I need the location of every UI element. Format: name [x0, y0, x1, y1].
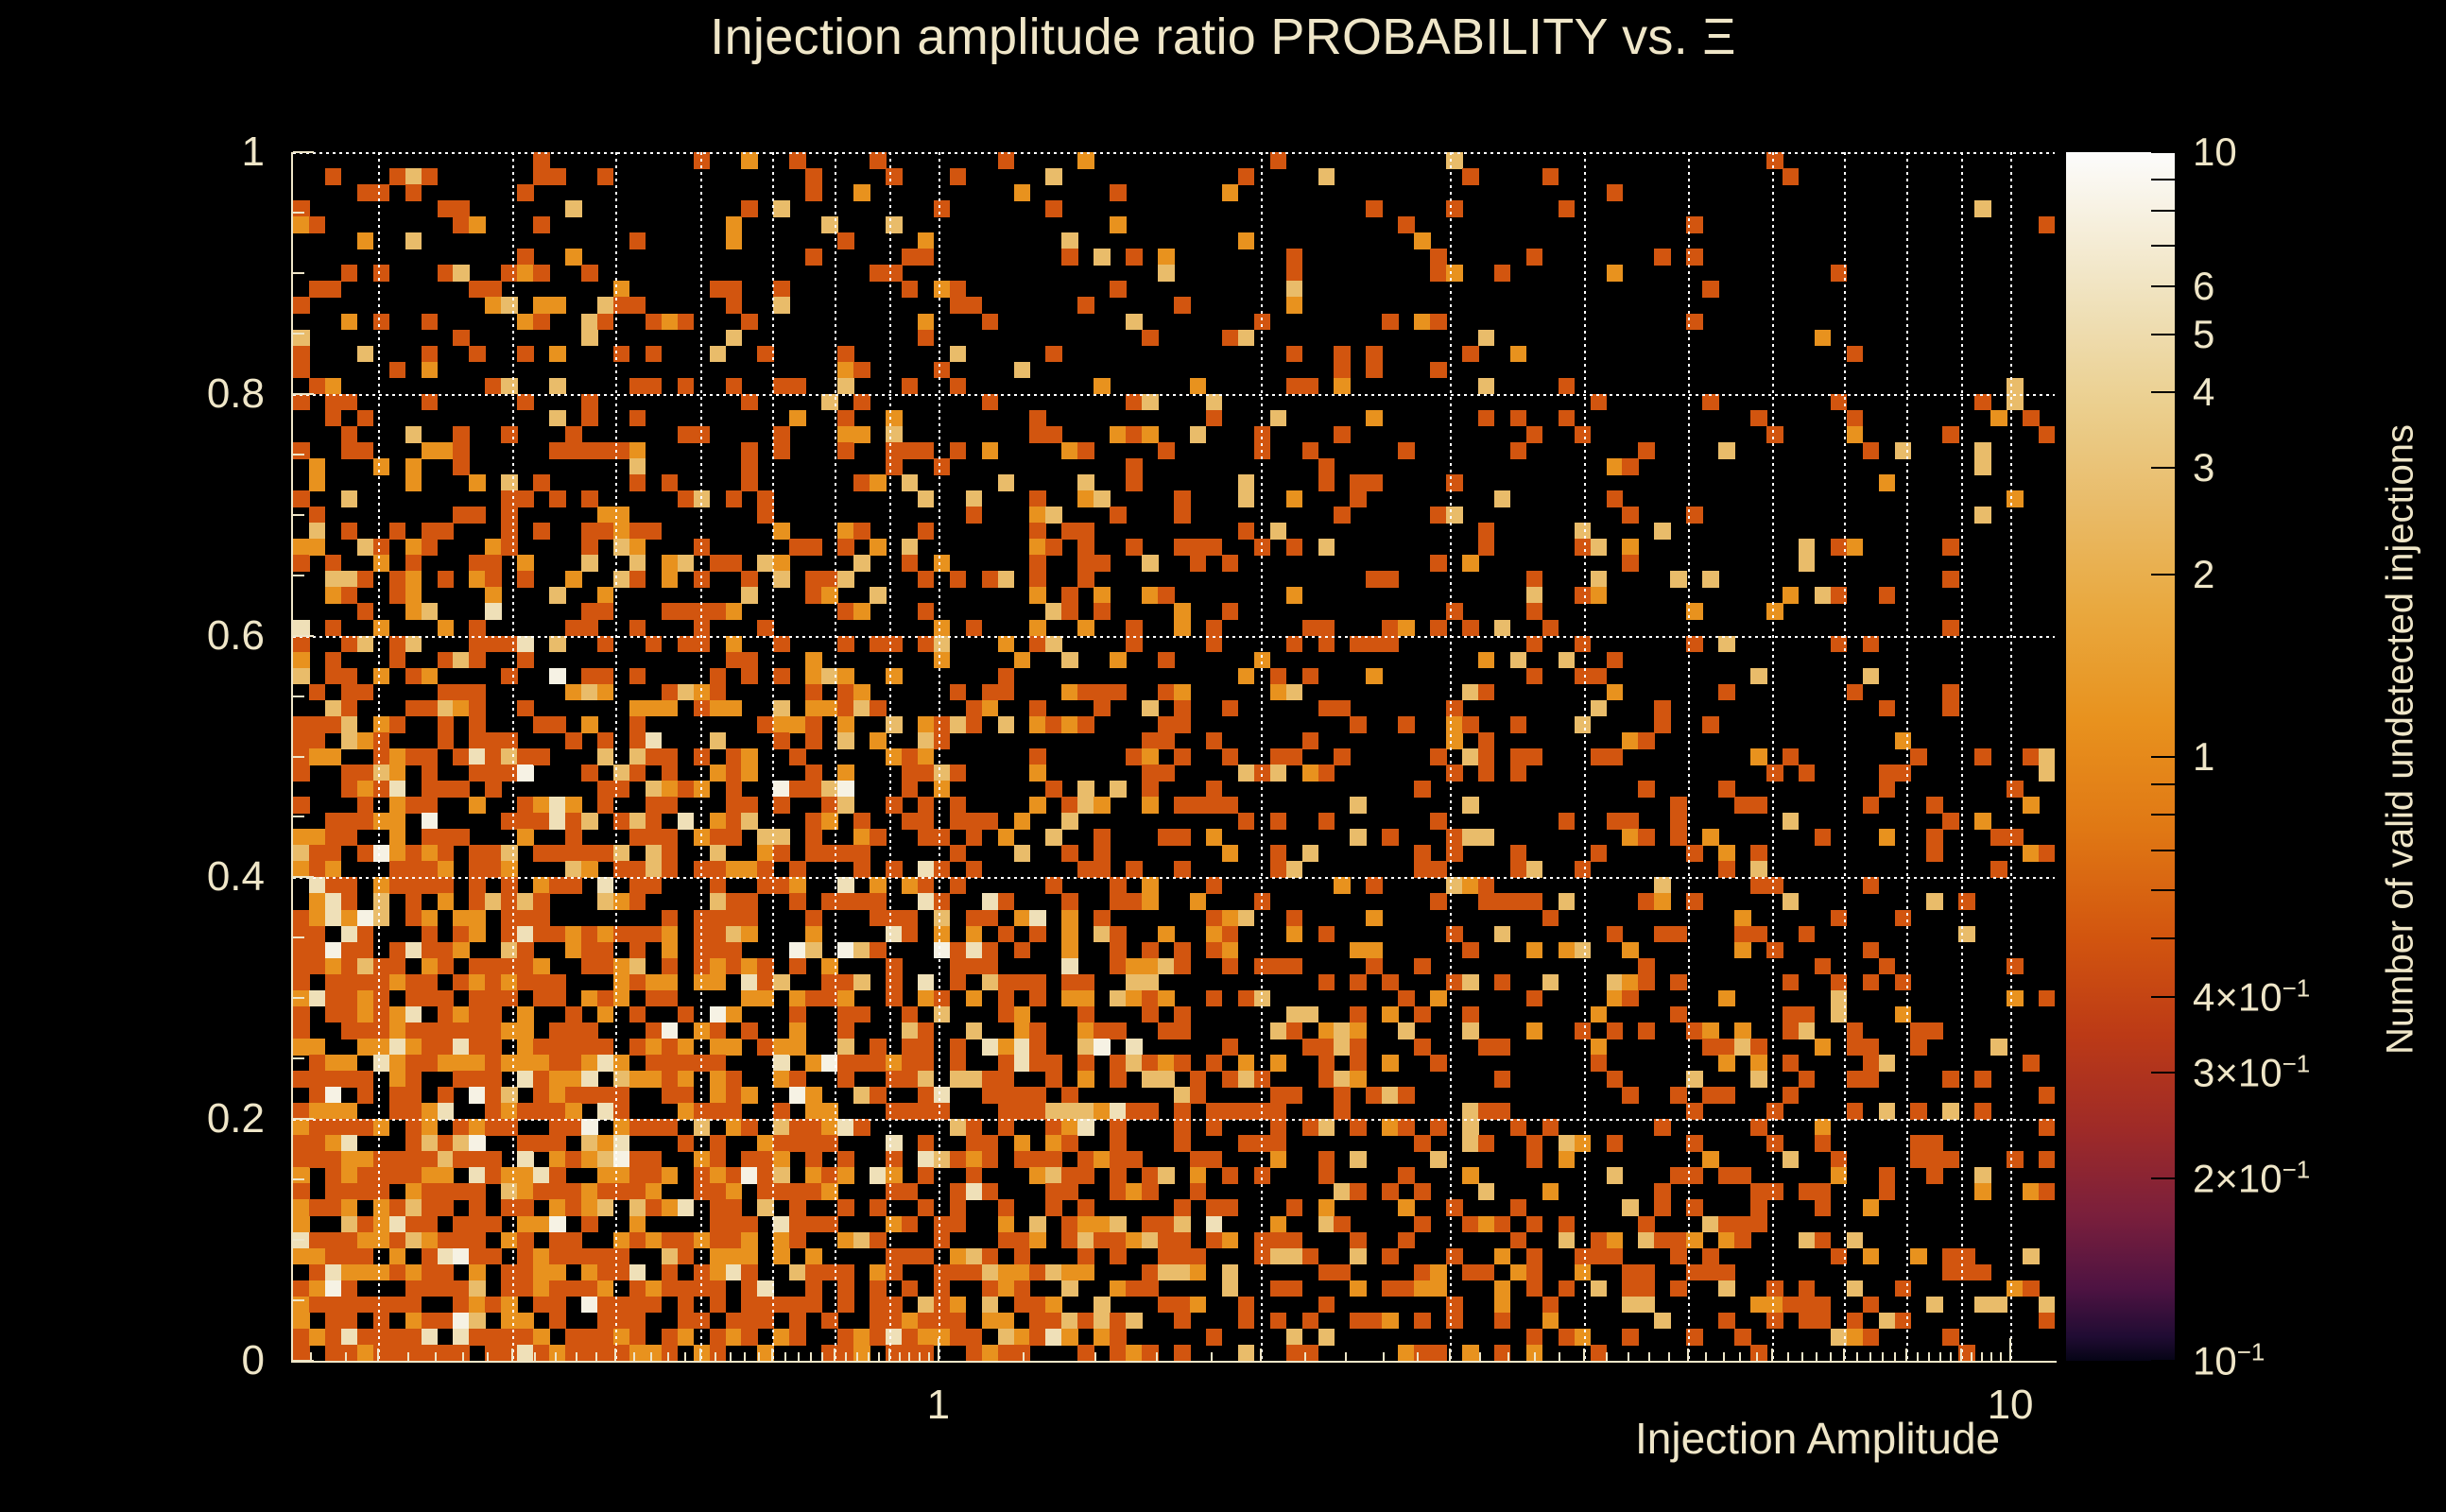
heatmap-cell [646, 636, 663, 653]
heatmap-cell [773, 1135, 790, 1152]
heatmap-cell [1045, 877, 1062, 894]
y-minor-tick [293, 575, 304, 576]
heatmap-cell [694, 926, 711, 943]
heatmap-cell [1206, 394, 1223, 411]
heatmap-cell [886, 1248, 903, 1265]
heatmap-cell [1061, 990, 1078, 1007]
heatmap-cell [1414, 861, 1431, 878]
heatmap-cell [1494, 1313, 1511, 1330]
heatmap-cell [902, 1216, 919, 1233]
heatmap-cell [1686, 1103, 1703, 1120]
heatmap-cell [1222, 330, 1239, 347]
heatmap-cell [629, 458, 646, 475]
heatmap-cell [549, 1135, 566, 1152]
heatmap-cell [2039, 1087, 2055, 1104]
heatmap-cell [1910, 1248, 1927, 1265]
heatmap-cell [837, 1167, 854, 1184]
heatmap-cell [485, 1119, 502, 1136]
heatmap-cell [389, 1022, 406, 1039]
heatmap-cell [581, 394, 598, 411]
heatmap-cell [853, 684, 870, 701]
heatmap-cell [1094, 1103, 1111, 1120]
heatmap-cell [629, 571, 646, 588]
heatmap-cell [678, 1313, 695, 1330]
heatmap-cell [726, 1006, 743, 1023]
heatmap-cell [309, 893, 326, 910]
heatmap-cell [405, 636, 422, 653]
heatmap-cell [293, 861, 310, 878]
heatmap-cell [373, 1151, 390, 1168]
heatmap-cell [1174, 1087, 1191, 1104]
heatmap-cell [678, 378, 695, 395]
heatmap-cell [918, 1055, 935, 1072]
heatmap-cell [1591, 1248, 1608, 1265]
heatmap-cell [1142, 700, 1159, 717]
heatmap-cell [1974, 442, 1991, 459]
heatmap-cell [789, 1264, 806, 1281]
heatmap-cell [918, 748, 935, 765]
heatmap-cell [789, 958, 806, 975]
heatmap-cell [1847, 1039, 1864, 1056]
heatmap-cell [886, 1313, 903, 1330]
heatmap-cell [1766, 1313, 1783, 1330]
heatmap-cell [1061, 910, 1078, 927]
heatmap-cell [422, 1232, 439, 1249]
heatmap-cell [1174, 1119, 1191, 1136]
heatmap-cell [1478, 523, 1495, 540]
heatmap-cell [565, 1280, 582, 1297]
heatmap-cell [694, 1119, 711, 1136]
heatmap-cell [902, 474, 919, 491]
heatmap-cell [1158, 926, 1175, 943]
heatmap-cell [918, 1297, 935, 1314]
heatmap-cell [934, 765, 951, 782]
heatmap-cell [757, 829, 774, 846]
heatmap-cell [1094, 1329, 1111, 1346]
heatmap-cell [982, 1087, 999, 1104]
heatmap-cell [357, 684, 374, 701]
heatmap-cell [373, 1055, 390, 1072]
heatmap-cell [581, 1071, 598, 1088]
heatmap-cell [357, 765, 374, 782]
heatmap-cell [1366, 346, 1383, 363]
heatmap-cell [1174, 1264, 1191, 1281]
heatmap-cell [597, 1264, 614, 1281]
heatmap-cell [1766, 765, 1783, 782]
heatmap-cell [1670, 1280, 1687, 1297]
heatmap-cell [934, 620, 951, 637]
x-minor-tick [462, 1352, 464, 1361]
heatmap-cell [1350, 1071, 1367, 1088]
heatmap-cell [309, 1135, 326, 1152]
heatmap-cell [1895, 1313, 1912, 1330]
heatmap-cell [357, 910, 374, 927]
heatmap-cell [629, 861, 646, 878]
heatmap-cell [1110, 1151, 1127, 1168]
heatmap-cell [1478, 748, 1495, 765]
heatmap-cell [405, 861, 422, 878]
heatmap-cell [341, 781, 358, 798]
heatmap-cell [773, 1232, 790, 1249]
heatmap-cell [1926, 829, 1943, 846]
heatmap-cell [805, 652, 822, 669]
heatmap-cell [1430, 1055, 1447, 1072]
heatmap-cell [1462, 974, 1479, 991]
heatmap-cell [1559, 1232, 1576, 1249]
heatmap-cell [1174, 620, 1191, 637]
x-minor-tick [821, 1352, 823, 1361]
heatmap-cell [1831, 394, 1848, 411]
heatmap-cell [646, 1022, 663, 1039]
heatmap-cell [1478, 1216, 1495, 1233]
heatmap-cell [1045, 539, 1062, 556]
heatmap-cell [597, 748, 614, 765]
heatmap-cell [1334, 362, 1351, 379]
heatmap-cell [1318, 700, 1335, 717]
heatmap-cell [1607, 265, 1624, 282]
heatmap-cell [389, 1232, 406, 1249]
heatmap-cell [1430, 748, 1447, 765]
heatmap-cell [1094, 603, 1111, 620]
heatmap-cell [469, 652, 486, 669]
heatmap-cell [405, 797, 422, 814]
heatmap-cell [1766, 603, 1783, 620]
heatmap-cell [902, 781, 919, 798]
heatmap-cell [341, 1135, 358, 1152]
heatmap-cell [821, 1313, 838, 1330]
heatmap-cell [757, 861, 774, 878]
heatmap-cell [1942, 700, 1959, 717]
heatmap-cell [1462, 942, 1479, 959]
heatmap-cell [741, 926, 758, 943]
heatmap-cell [485, 974, 502, 991]
heatmap-cell [1591, 1055, 1608, 1072]
heatmap-cell [581, 1297, 598, 1314]
heatmap-cell [1158, 1264, 1175, 1281]
heatmap-cell [485, 845, 502, 862]
heatmap-cell [1029, 1232, 1046, 1249]
heatmap-cell [629, 942, 646, 959]
heatmap-cell [950, 1199, 967, 1216]
colorbar-tick-mark [2151, 814, 2176, 816]
heatmap-cell [966, 1119, 983, 1136]
x-minor-tick [1869, 1352, 1871, 1361]
y-minor-tick [293, 212, 304, 214]
heatmap-cell [597, 1055, 614, 1072]
heatmap-cell [533, 1183, 550, 1200]
heatmap-cell [549, 1103, 566, 1120]
heatmap-cell [629, 1297, 646, 1314]
heatmap-cell [741, 1297, 758, 1314]
heatmap-cell [982, 942, 999, 959]
heatmap-cell [2023, 1280, 2040, 1297]
heatmap-cell [629, 1183, 646, 1200]
heatmap-cell [1398, 216, 1415, 233]
heatmap-cell [1077, 1264, 1094, 1281]
heatmap-cell [613, 958, 630, 975]
heatmap-cell [629, 926, 646, 943]
heatmap-cell [886, 716, 903, 733]
x-minor-tick [1990, 1352, 1992, 1361]
heatmap-cell [886, 1167, 903, 1184]
heatmap-cell [581, 1199, 598, 1216]
heatmap-cell [982, 1264, 999, 1281]
heatmap-cell [1734, 797, 1751, 814]
heatmap-cell [293, 942, 310, 959]
heatmap-cell [1206, 942, 1223, 959]
heatmap-cell [678, 1103, 695, 1120]
heatmap-cell [1686, 216, 1703, 233]
heatmap-cell [422, 1329, 439, 1346]
heatmap-cell [501, 1345, 518, 1361]
heatmap-cell [1174, 603, 1191, 620]
heatmap-cell [565, 1055, 582, 1072]
heatmap-cell [485, 1151, 502, 1168]
heatmap-cell [902, 1248, 919, 1265]
heatmap-cell [1783, 974, 1800, 991]
heatmap-cell [998, 1313, 1015, 1330]
heatmap-cell [1510, 765, 1527, 782]
heatmap-cell [565, 1103, 582, 1120]
heatmap-cell [934, 555, 951, 572]
heatmap-cell [1366, 942, 1383, 959]
heatmap-cell [694, 942, 711, 959]
heatmap-cell [646, 732, 663, 749]
heatmap-cell [726, 1313, 743, 1330]
heatmap-cell [1622, 1264, 1639, 1281]
heatmap-cell [678, 1135, 695, 1152]
heatmap-cell [341, 1167, 358, 1184]
heatmap-cell [982, 1313, 999, 1330]
heatmap-cell [581, 314, 598, 331]
heatmap-cell [453, 330, 470, 347]
heatmap-cell [357, 1022, 374, 1039]
heatmap-cell [1446, 974, 1463, 991]
heatmap-cell [613, 974, 630, 991]
heatmap-cell [1222, 1264, 1239, 1281]
heatmap-cell [726, 1167, 743, 1184]
heatmap-cell [934, 1087, 951, 1104]
heatmap-cell [1126, 1345, 1143, 1361]
heatmap-cell [1382, 571, 1399, 588]
heatmap-cell [597, 1280, 614, 1297]
heatmap-cell [662, 797, 679, 814]
heatmap-cell [1446, 152, 1463, 169]
heatmap-cell [886, 410, 903, 427]
heatmap-cell [1462, 716, 1479, 733]
heatmap-cell [694, 1264, 711, 1281]
heatmap-cell [581, 1055, 598, 1072]
heatmap-cell [1222, 555, 1239, 572]
heatmap-cell [293, 797, 310, 814]
heatmap-cell [870, 1329, 887, 1346]
heatmap-cell [453, 781, 470, 798]
heatmap-cell [1206, 797, 1223, 814]
heatmap-cell [1670, 1087, 1687, 1104]
heatmap-cell [1077, 442, 1094, 459]
heatmap-cell [1286, 636, 1303, 653]
heatmap-cell [293, 1022, 310, 1039]
heatmap-cell [934, 652, 951, 669]
x-minor-tick [1756, 1352, 1758, 1361]
heatmap-cell [710, 603, 727, 620]
heatmap-cell [1926, 845, 1943, 862]
heatmap-cell [293, 974, 310, 991]
heatmap-cell [805, 1216, 822, 1233]
heatmap-cell [1430, 1345, 1447, 1361]
heatmap-cell [757, 1313, 774, 1330]
heatmap-cell [1158, 1297, 1175, 1314]
heatmap-cell [581, 1135, 598, 1152]
heatmap-cell [1077, 474, 1094, 491]
heatmap-cell [325, 877, 342, 894]
heatmap-cell [597, 603, 614, 620]
heatmap-cell [918, 314, 935, 331]
heatmap-cell [1174, 716, 1191, 733]
heatmap-cell [966, 813, 983, 830]
heatmap-cell [950, 571, 967, 588]
heatmap-cell [934, 1264, 951, 1281]
heatmap-cell [357, 974, 374, 991]
heatmap-cell [726, 652, 743, 669]
heatmap-cell [741, 1329, 758, 1346]
heatmap-cell [2039, 426, 2055, 443]
heatmap-cell [1575, 1135, 1592, 1152]
heatmap-cell [1302, 1006, 1319, 1023]
heatmap-cell [1318, 458, 1335, 475]
heatmap-cell [453, 1297, 470, 1314]
heatmap-cell [757, 716, 774, 733]
heatmap-cell [1286, 1345, 1303, 1361]
heatmap-cell [662, 829, 679, 846]
heatmap-cell [1831, 636, 1848, 653]
heatmap-cell [422, 523, 439, 540]
heatmap-cell [1702, 571, 1719, 588]
heatmap-cell [293, 1151, 310, 1168]
heatmap-cell [565, 1071, 582, 1088]
heatmap-cell [469, 732, 486, 749]
heatmap-cell [998, 1199, 1015, 1216]
heatmap-cell [662, 1022, 679, 1039]
heatmap-cell [1077, 490, 1094, 507]
heatmap-cell [966, 861, 983, 878]
heatmap-cell [1334, 1087, 1351, 1104]
heatmap-cell [629, 474, 646, 491]
heatmap-cell [1142, 893, 1159, 910]
heatmap-cell [1254, 1103, 1271, 1120]
heatmap-cell [325, 555, 342, 572]
heatmap-cell [741, 813, 758, 830]
heatmap-cell [870, 1264, 887, 1281]
heatmap-cell [837, 603, 854, 620]
heatmap-cell [886, 1151, 903, 1168]
heatmap-cell [837, 797, 854, 814]
heatmap-cell [805, 1167, 822, 1184]
heatmap-cell [1670, 1248, 1687, 1265]
heatmap-cell [309, 1119, 326, 1136]
heatmap-cell [886, 1071, 903, 1088]
heatmap-cell [1863, 974, 1880, 991]
heatmap-cell [1942, 571, 1959, 588]
heatmap-cell [422, 829, 439, 846]
heatmap-cell [1815, 330, 1832, 347]
heatmap-cell [1526, 942, 1543, 959]
heatmap-cell [1174, 861, 1191, 878]
heatmap-cell [1270, 958, 1287, 975]
heatmap-cell [1831, 1167, 1848, 1184]
heatmap-cell [1206, 1232, 1223, 1249]
heatmap-cell [501, 845, 518, 862]
heatmap-plot-area[interactable] [293, 152, 2055, 1361]
heatmap-cell [726, 861, 743, 878]
heatmap-cell [646, 314, 663, 331]
heatmap-cell [357, 1297, 374, 1314]
heatmap-cell [1077, 1167, 1094, 1184]
heatmap-cell [1238, 523, 1255, 540]
heatmap-cell [565, 1329, 582, 1346]
colorbar-tick-mark [2151, 245, 2176, 247]
heatmap-cell [1863, 1297, 1880, 1314]
x-minor-tick [614, 1352, 616, 1361]
heatmap-cell [501, 1199, 518, 1216]
heatmap-cell [1974, 507, 1991, 524]
heatmap-cell [1718, 1167, 1735, 1184]
heatmap-cell [1478, 829, 1495, 846]
heatmap-cell [309, 1039, 326, 1056]
heatmap-cell [870, 587, 887, 604]
heatmap-cell [517, 394, 534, 411]
heatmap-cell [1126, 394, 1143, 411]
heatmap-cell [805, 1119, 822, 1136]
heatmap-cell [1462, 1022, 1479, 1039]
heatmap-cell [341, 765, 358, 782]
x-minor-tick [684, 1352, 686, 1361]
heatmap-cell [805, 990, 822, 1007]
heatmap-cell [485, 781, 502, 798]
heatmap-cell [1126, 748, 1143, 765]
heatmap-cell [422, 394, 439, 411]
heatmap-cell [998, 571, 1015, 588]
heatmap-cell [405, 700, 422, 717]
heatmap-cell [1750, 877, 1767, 894]
heatmap-cell [1494, 1216, 1511, 1233]
heatmap-cell [1045, 1119, 1062, 1136]
heatmap-cell [1029, 990, 1046, 1007]
heatmap-cell [950, 297, 967, 314]
heatmap-cell [517, 765, 534, 782]
heatmap-cell [1270, 523, 1287, 540]
heatmap-cell [1126, 620, 1143, 637]
heatmap-cell [373, 1039, 390, 1056]
heatmap-cell [1879, 700, 1896, 717]
heatmap-cell [1783, 1022, 1800, 1039]
heatmap-cell [1942, 1151, 1959, 1168]
heatmap-cell [1318, 765, 1335, 782]
x-minor-tick [771, 1352, 773, 1361]
heatmap-cell [1238, 1313, 1255, 1330]
heatmap-cell [453, 1329, 470, 1346]
heatmap-cell [373, 1329, 390, 1346]
heatmap-cell [1622, 555, 1639, 572]
heatmap-cell [1607, 1135, 1624, 1152]
heatmap-cell [517, 184, 534, 201]
heatmap-cell [549, 1151, 566, 1168]
heatmap-cell [517, 1167, 534, 1184]
heatmap-cell [1575, 1248, 1592, 1265]
heatmap-cell [438, 829, 455, 846]
heatmap-cell [646, 1055, 663, 1072]
heatmap-cell [1126, 1183, 1143, 1200]
